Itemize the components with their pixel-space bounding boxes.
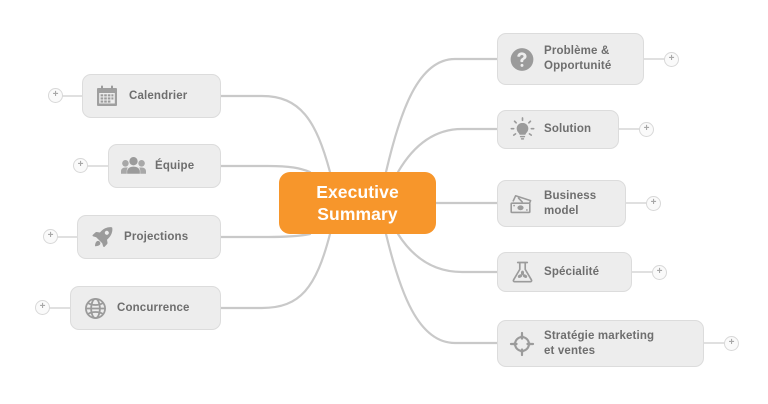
expander-strategie-marketing-ventes[interactable]: + — [724, 336, 739, 351]
expander-plus-label: + — [669, 54, 675, 64]
expander-probleme-opportunite[interactable]: + — [664, 52, 679, 67]
branch-node-calendrier[interactable]: Calendrier — [82, 74, 221, 118]
center-node-label: Executive Summary — [316, 181, 399, 226]
branch-label-business-model: Business model — [544, 189, 596, 219]
branch-node-business-model[interactable]: Business model — [497, 180, 626, 227]
branch-label-concurrence: Concurrence — [117, 301, 190, 316]
branch-label-specialite: Spécialité — [544, 265, 599, 280]
expander-specialite[interactable]: + — [652, 265, 667, 280]
connector-probleme — [386, 59, 497, 172]
branch-label-strategie-marketing-ventes: Stratégie marketing et ventes — [544, 329, 654, 359]
expander-plus-label: + — [53, 90, 59, 100]
question-circle-icon — [509, 46, 535, 72]
expander-business-model[interactable]: + — [646, 196, 661, 211]
branch-label-equipe: Équipe — [155, 159, 194, 174]
connector-strategie — [386, 234, 497, 343]
expander-equipe[interactable]: + — [73, 158, 88, 173]
branch-node-projections[interactable]: Projections — [77, 215, 221, 259]
branch-node-equipe[interactable]: Équipe — [108, 144, 221, 188]
expander-calendrier[interactable]: + — [48, 88, 63, 103]
expander-projections[interactable]: + — [43, 229, 58, 244]
expander-plus-label: + — [40, 302, 46, 312]
branch-label-projections: Projections — [124, 230, 188, 245]
expander-concurrence[interactable]: + — [35, 300, 50, 315]
branch-node-specialite[interactable]: Spécialité — [497, 252, 632, 292]
team-icon — [120, 153, 146, 179]
branch-node-solution[interactable]: Solution — [497, 110, 619, 149]
branch-node-probleme-opportunite[interactable]: Problème & Opportunité — [497, 33, 644, 85]
connector-calendrier — [220, 96, 330, 172]
banknote-icon — [509, 191, 535, 217]
expander-solution[interactable]: + — [639, 122, 654, 137]
expander-plus-label: + — [78, 160, 84, 170]
mind-map-canvas: Executive Summary — [0, 0, 768, 404]
flask-icon — [509, 259, 535, 285]
globe-icon — [82, 295, 108, 321]
calendar-icon — [94, 83, 120, 109]
branch-node-strategie-marketing-ventes[interactable]: Stratégie marketing et ventes — [497, 320, 704, 367]
branch-label-calendrier: Calendrier — [129, 89, 187, 104]
branch-label-solution: Solution — [544, 122, 591, 137]
rocket-icon — [89, 224, 115, 250]
expander-plus-label: + — [651, 198, 657, 208]
branch-node-concurrence[interactable]: Concurrence — [70, 286, 221, 330]
branch-label-probleme-opportunite: Problème & Opportunité — [544, 44, 611, 74]
connector-specialite — [398, 234, 497, 272]
connector-concurrence — [220, 234, 330, 308]
connector-projections — [220, 234, 310, 237]
lightbulb-icon — [509, 117, 535, 143]
expander-plus-label: + — [48, 231, 54, 241]
expander-plus-label: + — [657, 267, 663, 277]
target-icon — [509, 331, 535, 357]
connector-solution — [398, 129, 497, 172]
expander-plus-label: + — [729, 338, 735, 348]
expander-plus-label: + — [644, 124, 650, 134]
center-node-executive-summary[interactable]: Executive Summary — [279, 172, 436, 234]
